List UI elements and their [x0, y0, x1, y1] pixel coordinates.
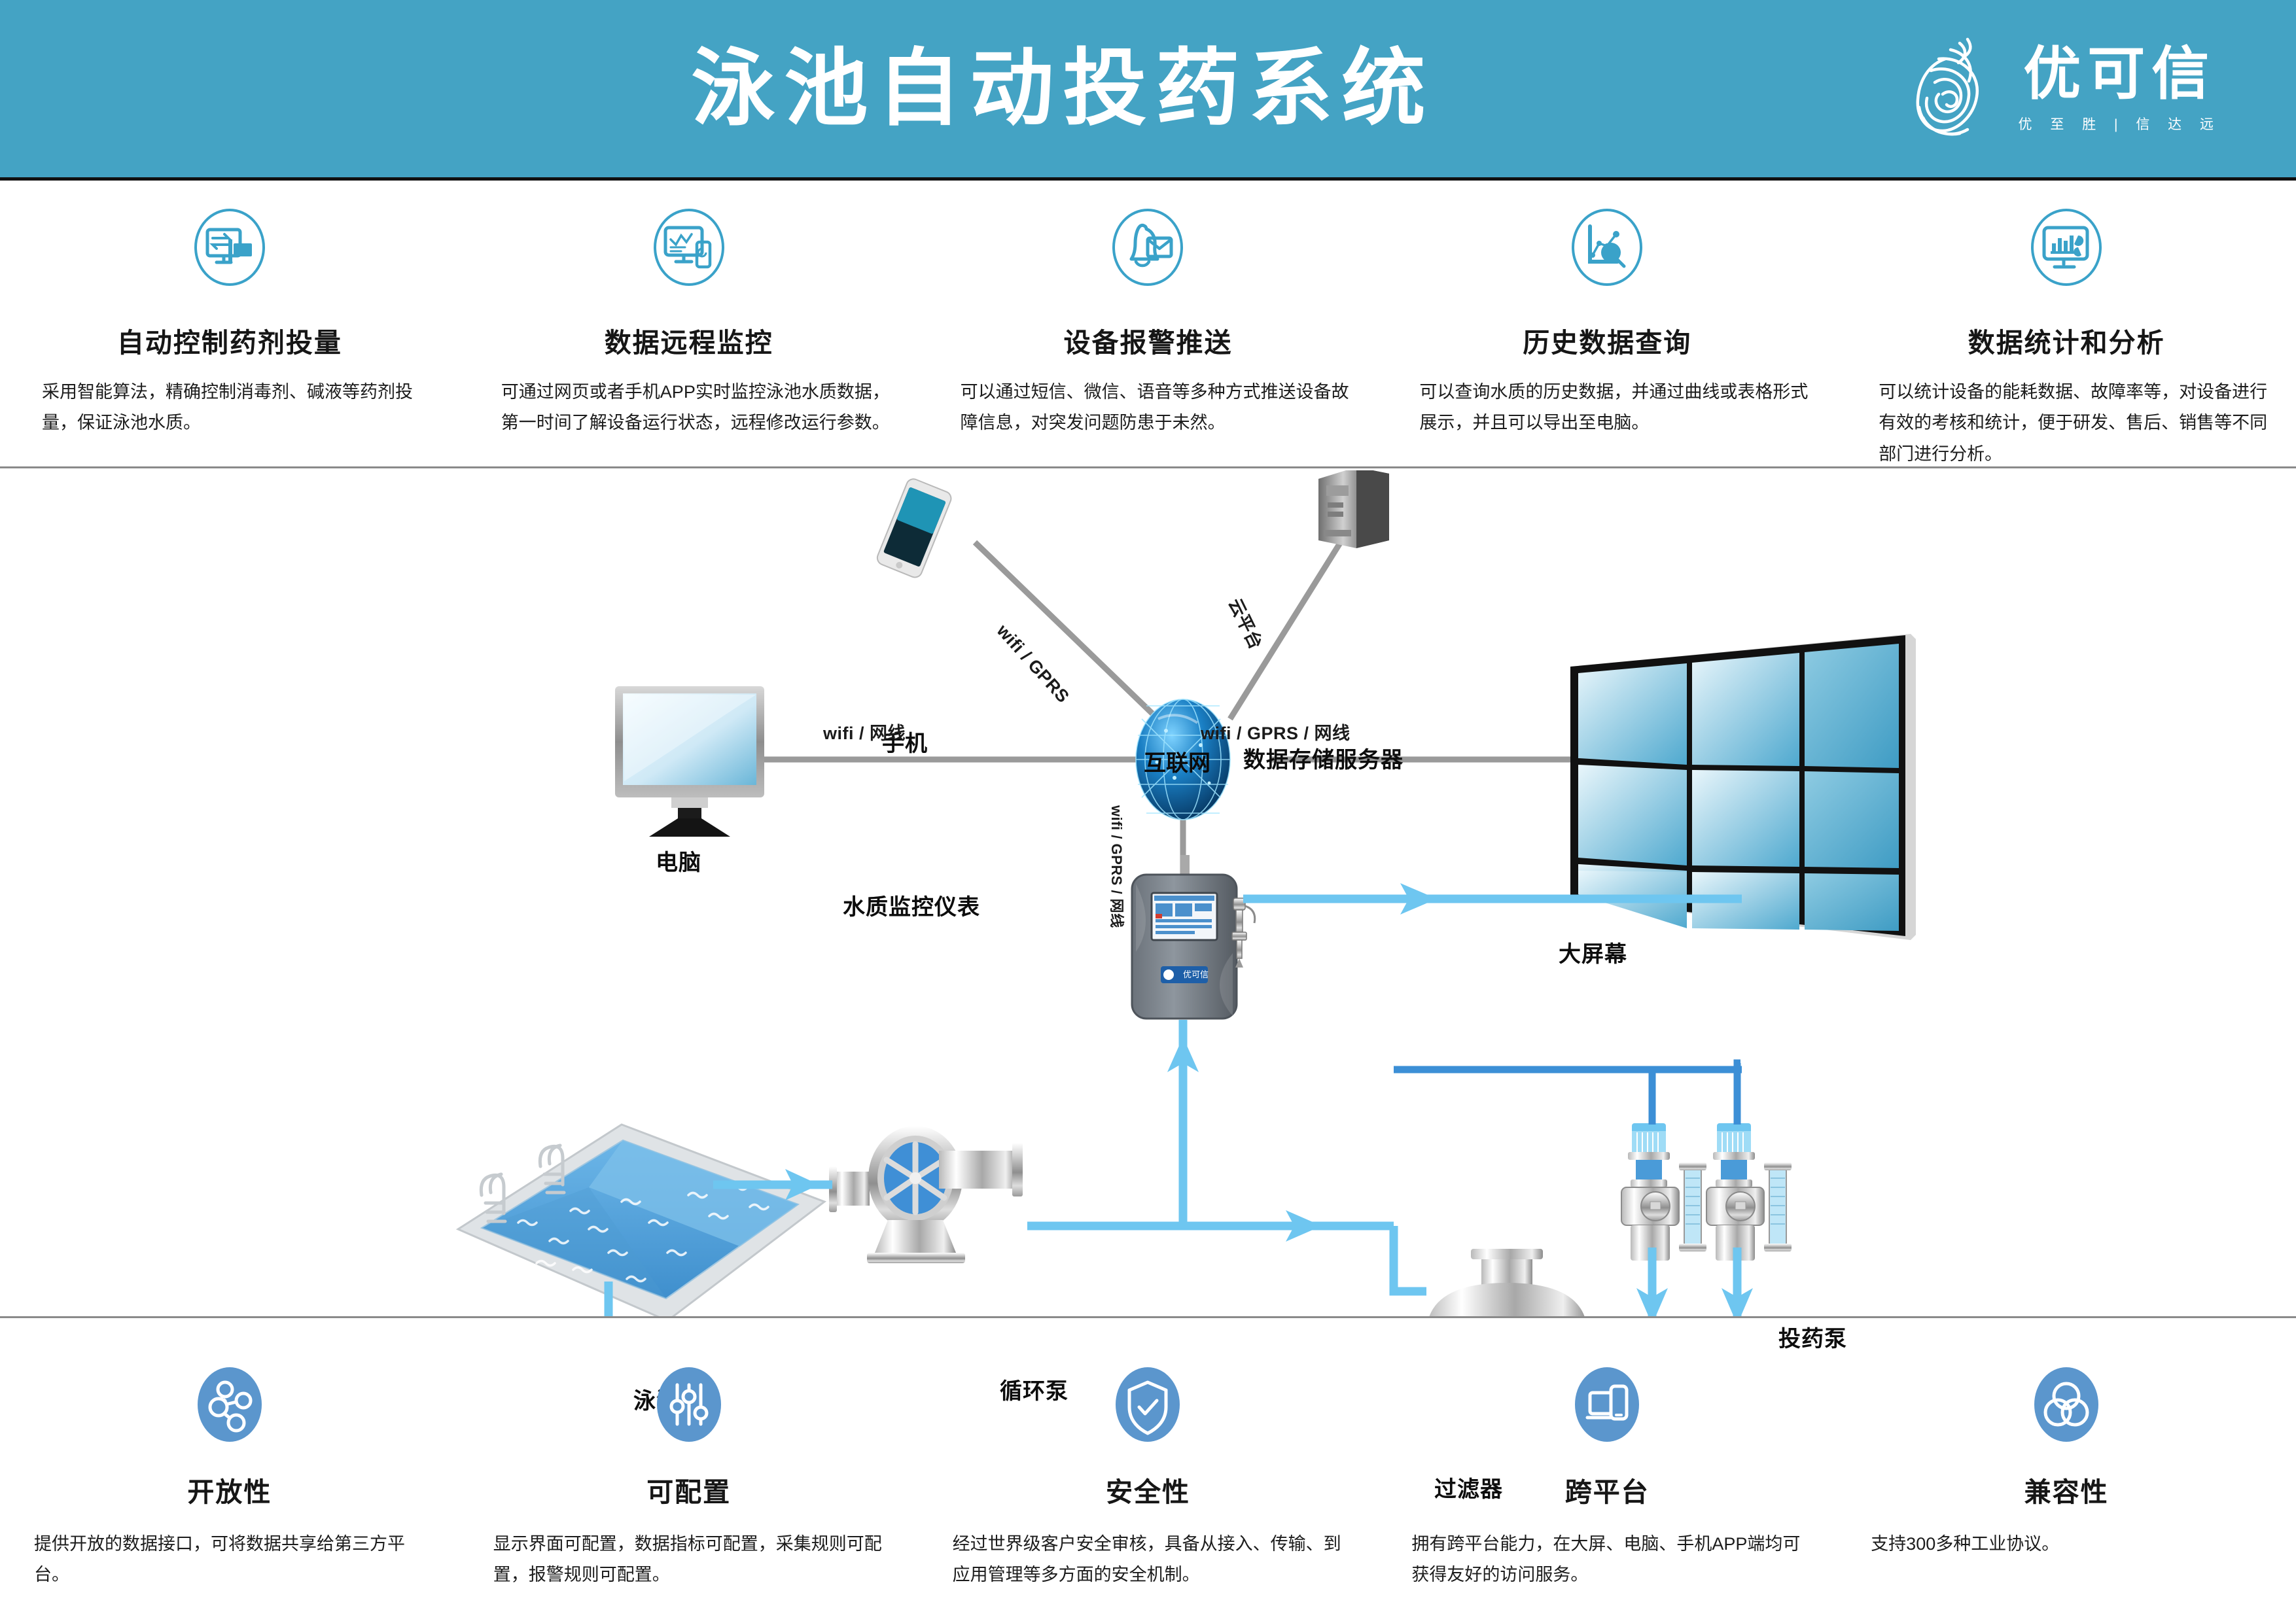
computer-monitor [615, 686, 764, 837]
brand-name: 优可信 [2023, 44, 2216, 104]
feature-desc: 经过世界级客户安全审核，具备从接入、传输、到应用管理等多方面的安全机制。 [946, 1529, 1351, 1591]
label-internet: 互联网 [1144, 745, 1210, 777]
feature-security: 安全性 经过世界级客户安全审核，具备从接入、传输、到应用管理等多方面的安全机制。 [919, 1344, 1378, 1623]
feature-desc: 可以通过短信、微信、语音等多种方式推送设备故障信息，对突发问题防患于未然。 [946, 377, 1351, 439]
link-label-computer: wifi / 网线 [823, 719, 906, 744]
link-label-bigscreen: wifi / GPRS / 网线 [1201, 719, 1351, 744]
chemical-feed-pipes [1394, 1063, 1742, 1125]
feature-title: 兼容性 [2024, 1470, 2109, 1509]
feature-title: 历史数据查询 [1523, 321, 1691, 360]
brand-tagline: 优 至 胜 | 信 达 远 [2019, 114, 2221, 133]
feature-cross-platform: 跨平台 拥有跨平台能力，在大屏、电脑、手机APP端均可获得友好的访问服务。 [1377, 1344, 1837, 1623]
dosing-pumps [1621, 1123, 1792, 1261]
label-bigscreen: 大屏幕 [1559, 936, 1627, 968]
link-label-meter: wifi / GPRS / 网线 [1107, 805, 1128, 928]
feature-remote-monitoring: 数据远程监控 可通过网页或者手机APP实时监控泳池水质数据，第一时间了解设备运行… [459, 181, 919, 466]
feature-desc: 拥有跨平台能力，在大屏、电脑、手机APP端均可获得友好的访问服务。 [1405, 1529, 1809, 1591]
venn-circles-icon [2024, 1360, 2108, 1457]
page-header: 泳池自动投药系统 优可信 优 至 胜 | 信 达 远 [0, 0, 2296, 181]
feature-alarm-push: 设备报警推送 可以通过短信、微信、语音等多种方式推送设备故障信息，对突发问题防患… [919, 181, 1378, 466]
shield-check-icon [1106, 1360, 1190, 1457]
feature-desc: 可通过网页或者手机APP实时监控泳池水质数据，第一时间了解设备运行状态，远程修改… [487, 377, 891, 439]
brand-logo: 优可信 优 至 胜 | 信 达 远 [1905, 34, 2221, 144]
monitor-dosing-icon [188, 207, 272, 304]
feature-desc: 显示界面可配置，数据指标可配置，采集规则可配置，报警规则可配置。 [487, 1529, 891, 1591]
chart-magnifier-icon [1565, 207, 1649, 304]
feature-openness: 开放性 提供开放的数据接口，可将数据共享给第三方平台。 [0, 1344, 459, 1623]
monitor-phone-chart-icon [647, 207, 731, 304]
mobile-phone [875, 477, 953, 580]
flow-into-filter [1394, 1226, 1426, 1291]
feature-title: 数据远程监控 [605, 321, 773, 360]
feature-title: 设备报警推送 [1063, 321, 1232, 360]
feature-desc: 可以统计设备的能耗数据、故障率等，对设备进行有效的考核和统计，便于研发、售后、销… [1864, 377, 2269, 470]
water-quality-meter: 优可信 [1132, 855, 1255, 1019]
filter-vessel [1426, 1249, 1587, 1316]
swimming-pool [458, 1125, 824, 1316]
feature-auto-dosing: 自动控制药剂投量 采用智能算法，精确控制消毒剂、碱液等药剂投量，保证泳池水质。 [0, 181, 459, 466]
bell-envelope-icon [1106, 207, 1190, 304]
feature-title: 开放性 [187, 1470, 272, 1509]
flow-return-to-pool [609, 1282, 1778, 1316]
feature-title: 跨平台 [1565, 1470, 1650, 1509]
big-screen-wall [1570, 634, 1916, 940]
feature-title: 数据统计和分析 [1968, 321, 2165, 360]
system-diagram: 优可信 [0, 470, 2296, 1316]
label-server: 数据存储服务器 [1243, 742, 1404, 774]
top-features-row: 自动控制药剂投量 采用智能算法，精确控制消毒剂、碱液等药剂投量，保证泳池水质。 … [0, 181, 2296, 468]
feature-desc: 支持300多种工业协议。 [1864, 1529, 2269, 1560]
monitor-analytics-icon [2024, 207, 2108, 304]
brand-droplet-icon [1905, 34, 2002, 144]
feature-title: 自动控制药剂投量 [117, 321, 342, 360]
label-computer: 电脑 [656, 845, 701, 877]
meter-brand-text: 优可信 [1183, 969, 1209, 979]
feature-configurable: 可配置 显示界面可配置，数据指标可配置，采集规则可配置，报警规则可配置。 [459, 1344, 919, 1623]
page-title: 泳池自动投药系统 [691, 47, 1434, 131]
feature-desc: 采用智能算法，精确控制消毒剂、碱液等药剂投量，保证泳池水质。 [27, 377, 432, 439]
feature-desc: 可以查询水质的历史数据，并通过曲线或表格形式展示，并且可以导出至电脑。 [1405, 377, 1809, 439]
feature-title: 可配置 [646, 1470, 731, 1509]
feature-title: 安全性 [1106, 1470, 1190, 1509]
sliders-icon [647, 1360, 731, 1457]
devices-icon [1565, 1360, 1649, 1457]
label-meter: 水质监控仪表 [843, 889, 980, 921]
bottom-features-row: 开放性 提供开放的数据接口，可将数据共享给第三方平台。 可配置 显示界面可配置，… [0, 1316, 2296, 1623]
feature-compatibility: 兼容性 支持300多种工业协议。 [1837, 1344, 2296, 1623]
feature-desc: 提供开放的数据接口，可将数据共享给第三方平台。 [27, 1529, 432, 1591]
feature-history-query: 历史数据查询 可以查询水质的历史数据，并通过曲线或表格形式展示，并且可以导出至电… [1377, 181, 1837, 466]
circulation-pump [829, 1126, 1023, 1263]
data-server [1318, 470, 1389, 548]
share-nodes-icon [188, 1360, 272, 1457]
feature-statistics-analysis: 数据统计和分析 可以统计设备的能耗数据、故障率等，对设备进行有效的考核和统计，便… [1837, 181, 2296, 466]
